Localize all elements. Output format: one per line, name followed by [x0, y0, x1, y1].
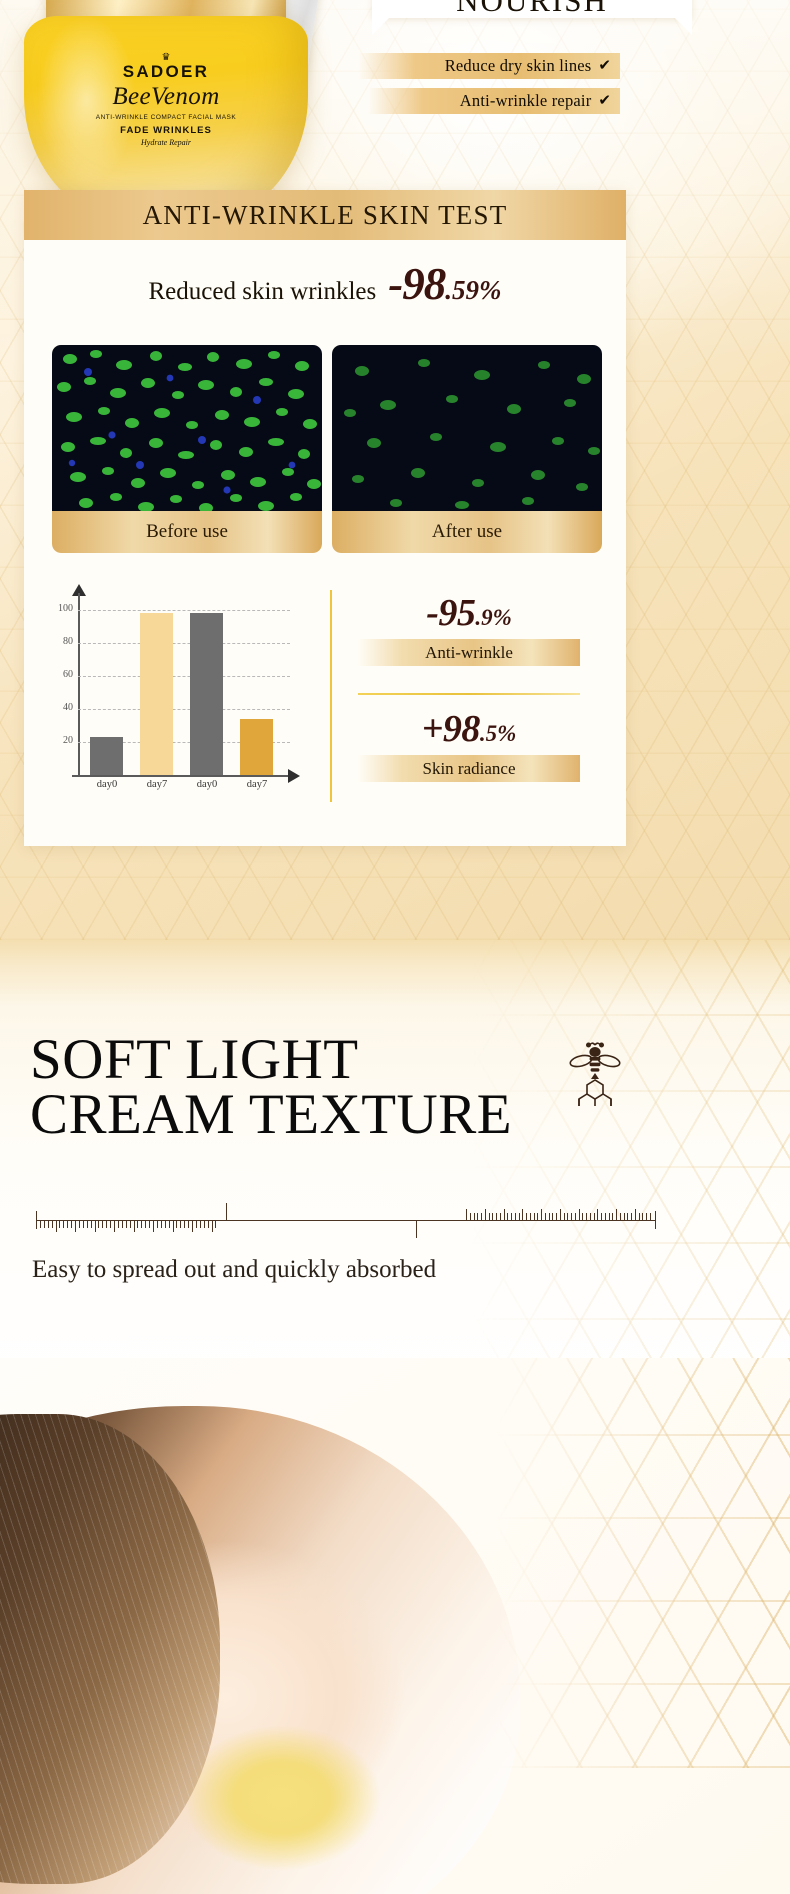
ruler-tick [522, 1209, 523, 1220]
micrograph-after-image [332, 345, 602, 513]
ruler-tick [620, 1213, 621, 1220]
ruler-tick [102, 1221, 103, 1228]
ruler-tick [504, 1209, 505, 1220]
ruler-tick [515, 1213, 516, 1220]
ruler-tick [110, 1221, 111, 1228]
ruler-tick [75, 1221, 76, 1232]
ruler-tick [582, 1213, 583, 1220]
micrograph-before-image [52, 345, 322, 513]
ruler-tick [474, 1213, 475, 1220]
ruler-tick [126, 1221, 127, 1228]
benefit-item-1: Anti-wrinkle repair ✔ [368, 88, 620, 114]
ruler-tick [180, 1221, 181, 1228]
stat-anti-wrinkle-label: Anti-wrinkle [358, 639, 580, 666]
ruler-tick [63, 1221, 64, 1228]
ruler-tick [616, 1209, 617, 1220]
texture-title: SOFT LIGHT CREAM TEXTURE [30, 1033, 650, 1142]
ruler-tick [52, 1221, 53, 1228]
ruler-tick [601, 1213, 602, 1220]
benefit-item-0: Reduce dry skin lines ✔ [358, 53, 620, 79]
reduced-wrinkles-result: Reduced skin wrinkles -98.59% [24, 258, 626, 310]
ruler-tick [594, 1213, 595, 1220]
stats-separator-rule [358, 693, 580, 695]
micrograph-after-caption: After use [332, 511, 602, 553]
ruler-tick [519, 1213, 520, 1220]
stats-divider [330, 590, 332, 802]
ruler-tick [642, 1213, 643, 1220]
ruler-tick [590, 1213, 591, 1220]
ruler-tick [646, 1213, 647, 1220]
ruler-tick [605, 1213, 606, 1220]
x-tick-label-2: day0 [184, 779, 230, 790]
product-name: BeeVenom [24, 83, 308, 111]
ruler-tick [153, 1221, 154, 1232]
reduced-wrinkles-label: Reduced skin wrinkles [149, 278, 377, 306]
ruler-tick [609, 1213, 610, 1220]
ruler-tick [67, 1221, 68, 1228]
ruler-tick [526, 1213, 527, 1220]
ruler-mid-mark [226, 1203, 227, 1221]
micrograph-before-caption: Before use [52, 511, 322, 553]
texture-title-line2: CREAM TEXTURE [30, 1088, 650, 1143]
ruler-tick [560, 1209, 561, 1220]
ruler-tick [134, 1221, 135, 1232]
bar-2 [190, 613, 223, 775]
ruler-tick [541, 1209, 542, 1220]
anti-wrinkle-bar-chart: 20406080100 day0day7day0day7 [52, 585, 327, 810]
ruler-divider [36, 1203, 656, 1237]
benefit-label-1: Anti-wrinkle repair [460, 91, 592, 111]
reduced-wrinkles-value: -98.59% [388, 258, 501, 310]
gridline-80: 80 [78, 643, 290, 644]
ruler-tick [169, 1221, 170, 1228]
ruler-tick [466, 1209, 467, 1220]
ruler-tick [79, 1221, 80, 1228]
y-tick-label-20: 20 [63, 735, 73, 746]
ruler-end-cap-left [36, 1211, 37, 1229]
origin-tick [72, 775, 81, 777]
ruler-tick [114, 1221, 115, 1232]
ruler-tick [549, 1213, 550, 1220]
ruler-tick [496, 1213, 497, 1220]
bar-1 [140, 613, 173, 775]
ruler-tick [556, 1213, 557, 1220]
micrograph-before: Before use [52, 345, 322, 553]
ruler-tick [149, 1221, 150, 1228]
ruler-tick [612, 1213, 613, 1220]
x-tick-label-0: day0 [84, 779, 130, 790]
product-claim-sub: Hydrate Repair [24, 138, 308, 147]
ruler-tick [597, 1209, 598, 1220]
product-claim: FADE WRINKLES [24, 125, 308, 136]
ruler-tick [176, 1221, 177, 1228]
nourish-banner-label: NOURISH [456, 0, 608, 18]
ruler-tick [145, 1221, 146, 1228]
gridline-100: 100 [78, 610, 290, 611]
skin-test-header: ANTI-WRINKLE SKIN TEST [24, 190, 626, 240]
reduced-value-big: -98 [388, 259, 445, 309]
ruler-tick [624, 1213, 625, 1220]
ruler-tick [118, 1221, 119, 1228]
stat-0-value-big: -95 [426, 592, 475, 634]
ruler-tick [56, 1221, 57, 1232]
y-tick-label-40: 40 [63, 702, 73, 713]
reduced-value-small: .59% [445, 275, 501, 305]
ruler-tick [40, 1221, 41, 1228]
gridline-60: 60 [78, 676, 290, 677]
ruler-tick [122, 1221, 123, 1228]
ruler-tick [106, 1221, 107, 1228]
ruler-tick [489, 1213, 490, 1220]
x-axis-arrow [288, 769, 300, 783]
ruler-tick [631, 1213, 632, 1220]
ruler-tick [196, 1221, 197, 1228]
ruler-tick [130, 1221, 131, 1228]
ruler-tick [586, 1213, 587, 1220]
ruler-tick [212, 1221, 213, 1232]
stat-skin-radiance-value: +98.5% [358, 710, 580, 748]
ruler-tick [59, 1221, 60, 1228]
stat-skin-radiance: +98.5% Skin radiance [358, 710, 580, 782]
benefit-label-0: Reduce dry skin lines [445, 56, 592, 76]
y-tick-label-100: 100 [58, 603, 73, 614]
product-descriptor: ANTI-WRINKLE COMPACT FACIAL MASK [24, 114, 308, 121]
ruler-tick [215, 1221, 216, 1228]
check-icon: ✔ [598, 94, 611, 109]
nourish-banner: NOURISH [372, 0, 692, 18]
bee-honeycomb-icon [565, 1040, 625, 1106]
texture-subtitle: Easy to spread out and quickly absorbed [32, 1256, 436, 1284]
ruler-tick [552, 1213, 553, 1220]
ruler-tick [184, 1221, 185, 1228]
application-photo [0, 1358, 790, 1894]
ruler-tick [579, 1209, 580, 1220]
crown-icon: ♛ [24, 54, 308, 61]
stat-0-value-small: .9% [475, 605, 511, 630]
ruler-end-cap-right [655, 1211, 656, 1229]
ruler-tick [98, 1221, 99, 1228]
stat-1-value-big: +98 [422, 708, 480, 750]
ruler-tick [200, 1221, 201, 1228]
bar-0 [90, 737, 123, 775]
ruler-tick [173, 1221, 174, 1232]
skin-test-heading: ANTI-WRINKLE SKIN TEST [143, 200, 508, 231]
stat-1-value-small: .5% [480, 721, 516, 746]
bar-3 [240, 719, 273, 775]
y-tick-label-80: 80 [63, 636, 73, 647]
x-tick-label-3: day7 [234, 779, 280, 790]
ruler-tick [87, 1221, 88, 1228]
ruler-tick [571, 1213, 572, 1220]
ruler-tick [44, 1221, 45, 1228]
y-tick-label-60: 60 [63, 669, 73, 680]
ruler-tick [208, 1221, 209, 1228]
ruler-tick [485, 1209, 486, 1220]
y-axis-line [78, 593, 80, 775]
ruler-tick [470, 1213, 471, 1220]
ruler-tick [545, 1213, 546, 1220]
ruler-tick [564, 1213, 565, 1220]
jar-label-text: ♛ SADOER BeeVenom ANTI-WRINKLE COMPACT F… [24, 54, 308, 147]
texture-title-line1: SOFT LIGHT [30, 1033, 650, 1088]
gridline-40: 40 [78, 709, 290, 710]
ruler-tick [188, 1221, 189, 1228]
x-tick-label-1: day7 [134, 779, 180, 790]
micrograph-after: After use [332, 345, 602, 553]
ruler-tick [161, 1221, 162, 1228]
ruler-tick [157, 1221, 158, 1228]
ruler-tick [48, 1221, 49, 1228]
ruler-tick [192, 1221, 193, 1232]
ruler-tick [492, 1213, 493, 1220]
ruler-tick [534, 1213, 535, 1220]
ruler-tick [639, 1213, 640, 1220]
ruler-tick [567, 1213, 568, 1220]
ruler-tick [141, 1221, 142, 1228]
stat-anti-wrinkle-value: -95.9% [358, 594, 580, 632]
ruler-tick [71, 1221, 72, 1228]
ruler-tick [95, 1221, 96, 1232]
ruler-tick [137, 1221, 138, 1228]
photo-honeycomb-overlay [470, 1358, 790, 1768]
ruler-tick [500, 1213, 501, 1220]
hero-section: ♛ SADOER BeeVenom ANTI-WRINKLE COMPACT F… [0, 0, 790, 940]
ruler-tick [165, 1221, 166, 1228]
ruler-tick [627, 1213, 628, 1220]
ruler-mid-mark-2 [416, 1220, 417, 1238]
ruler-tick [635, 1209, 636, 1220]
ruler-tick [507, 1213, 508, 1220]
ruler-tick [91, 1221, 92, 1228]
ruler-tick [650, 1213, 651, 1220]
ruler-tick [511, 1213, 512, 1220]
ruler-tick [481, 1213, 482, 1220]
brand-name: SADOER [123, 62, 210, 81]
check-icon: ✔ [598, 59, 611, 74]
ruler-tick [537, 1213, 538, 1220]
ruler-tick [530, 1213, 531, 1220]
stat-skin-radiance-label: Skin radiance [358, 755, 580, 782]
ruler-tick [204, 1221, 205, 1228]
ruler-tick [83, 1221, 84, 1228]
stat-anti-wrinkle: -95.9% Anti-wrinkle [358, 594, 580, 666]
ruler-tick [477, 1213, 478, 1220]
ruler-tick [575, 1213, 576, 1220]
x-axis-line [78, 775, 290, 777]
